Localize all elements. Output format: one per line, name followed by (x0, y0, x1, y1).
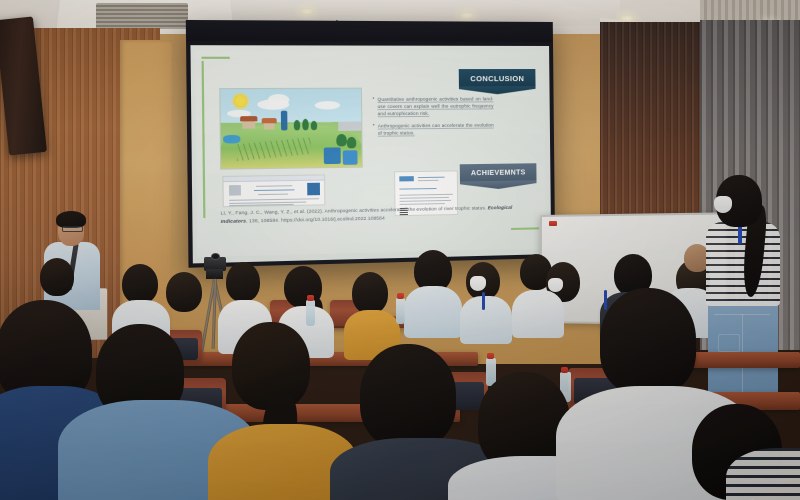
standing-attendee-face-mask (714, 196, 732, 213)
list-item: • Quantitative anthropogenic activities … (372, 95, 493, 117)
tree-icon (302, 119, 308, 130)
foreground-head (600, 288, 696, 394)
presenter-glasses (62, 226, 83, 232)
whiteboard-magnet (549, 221, 557, 226)
bullet-text: Quantitative anthropogenic activities ba… (377, 95, 493, 117)
slide-canvas: • Quantitative anthropogenic activities … (195, 50, 546, 257)
bullet-dot-icon: • (373, 122, 375, 136)
sun-icon (233, 94, 247, 108)
audience-head (166, 272, 202, 312)
text-line (229, 198, 319, 201)
camera-body (206, 269, 223, 279)
audience-head (352, 272, 388, 314)
face-mask (470, 276, 486, 291)
lanyard (482, 292, 485, 310)
citation-authors: LI, Y., Fang, J. C., Wang, Y. Z., et al. (221, 209, 306, 216)
downlight-icon (460, 12, 474, 19)
water-tank (343, 150, 358, 165)
farmhouse-roof (240, 116, 257, 121)
bullet-dot-icon: • (372, 96, 374, 118)
lanyard (604, 290, 607, 310)
citation-doi: https://doi.org/10.1016/j.ecolind.2022.1… (281, 215, 385, 222)
thumbnail-header (223, 175, 324, 182)
citation-volume: 136, 108584. (249, 218, 280, 224)
slide-accent-line-bottom (511, 227, 539, 230)
audience-torso (404, 286, 462, 338)
text-line (399, 194, 452, 196)
journal-article-thumbnail (222, 174, 325, 207)
audience-torso (460, 296, 512, 344)
text-line (400, 200, 451, 202)
audience-torso (512, 290, 564, 338)
text-line (418, 180, 439, 181)
tree-icon (294, 120, 300, 130)
thumbnail-banner (399, 176, 414, 181)
citation-title: Anthropogenic activities accelerated the… (325, 205, 487, 213)
foreground-head (360, 344, 456, 448)
cloud-icon (268, 94, 289, 106)
citation-year: (2022). (307, 208, 324, 213)
factory-building (338, 122, 361, 131)
screen-frame: • Quantitative anthropogenic activities … (186, 41, 555, 268)
text-line (254, 189, 295, 191)
conclusion-ribbon: CONCLUSION (459, 69, 536, 88)
tree-icon (347, 137, 357, 148)
presentation-slide: • Quantitative anthropogenic activities … (190, 45, 551, 263)
downlight-icon (300, 8, 314, 15)
slide-accent-line-left (202, 61, 206, 218)
cloud-icon (315, 101, 340, 109)
water-tank (324, 147, 341, 164)
farmhouse-roof (262, 118, 277, 123)
achievements-ribbon: ACHIEVEMNTS (460, 163, 537, 183)
slide-accent-line-top (202, 57, 230, 59)
conclusion-ribbon-label: CONCLUSION (470, 74, 524, 83)
standing-attendee-shirt (706, 222, 780, 306)
silo (281, 111, 288, 131)
slide-bullet-list: • Quantitative anthropogenic activities … (372, 95, 493, 142)
projection-screen: • Quantitative anthropogenic activities … (186, 20, 555, 268)
audience-head (226, 262, 260, 302)
text-line (229, 204, 293, 206)
water-bottle (306, 300, 315, 326)
text-line (400, 197, 449, 199)
audience-head (122, 264, 158, 304)
text-line (418, 177, 445, 178)
list-item: • Anthropogenic activities can accelerat… (373, 121, 494, 136)
tree-icon (311, 121, 317, 130)
camera-lens-icon (211, 253, 220, 260)
watershed-landscape-illustration (219, 88, 363, 170)
jeans-pocket (718, 334, 740, 352)
thumbnail-cover-image (307, 183, 320, 196)
text-line (256, 185, 292, 187)
thumbnail-logo (229, 185, 241, 196)
pond (223, 135, 240, 144)
slide-citation: LI, Y., Fang, J. C., Wang, Y. Z., et al.… (221, 204, 523, 227)
achievements-ribbon-label: ACHIEVEMNTS (471, 169, 526, 177)
farmhouse (242, 120, 255, 128)
downlight-icon (620, 15, 634, 22)
tree-icon (336, 134, 347, 146)
water-bottle (396, 298, 405, 324)
audience-head (40, 258, 74, 296)
conference-room-photo: • Quantitative anthropogenic activities … (0, 0, 800, 500)
bullet-text: Anthropogenic activities can accelerate … (378, 121, 494, 136)
ac-grille (96, 3, 188, 29)
text-line (399, 188, 436, 190)
ceiling-air-vent (700, 0, 800, 22)
face-mask (548, 278, 563, 292)
text-line (258, 194, 288, 196)
